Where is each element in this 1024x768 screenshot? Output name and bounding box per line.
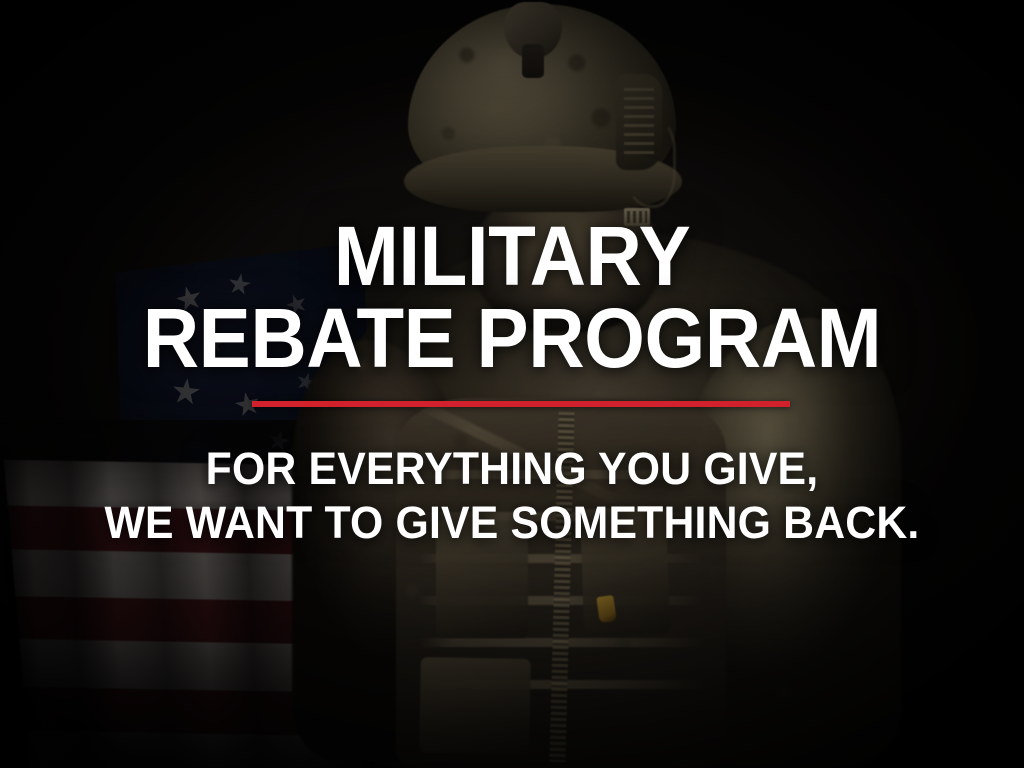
headline-line-2: REBATE PROGRAM [36,300,988,377]
subheadline-line-1: FOR EVERYTHING YOU GIVE, [26,443,999,495]
nvg-stem [522,44,544,78]
amber-accessory [596,595,616,623]
subheadline-line-2: WE WANT TO GIVE SOMETHING BACK. [26,497,999,549]
mag-pouch [419,657,531,755]
helmet-cable [622,120,676,208]
red-divider-rule [252,401,790,407]
military-rebate-poster: MILITARY REBATE PROGRAM FOR EVERYTHING Y… [0,0,1024,768]
headline-line-1: MILITARY [36,218,988,295]
